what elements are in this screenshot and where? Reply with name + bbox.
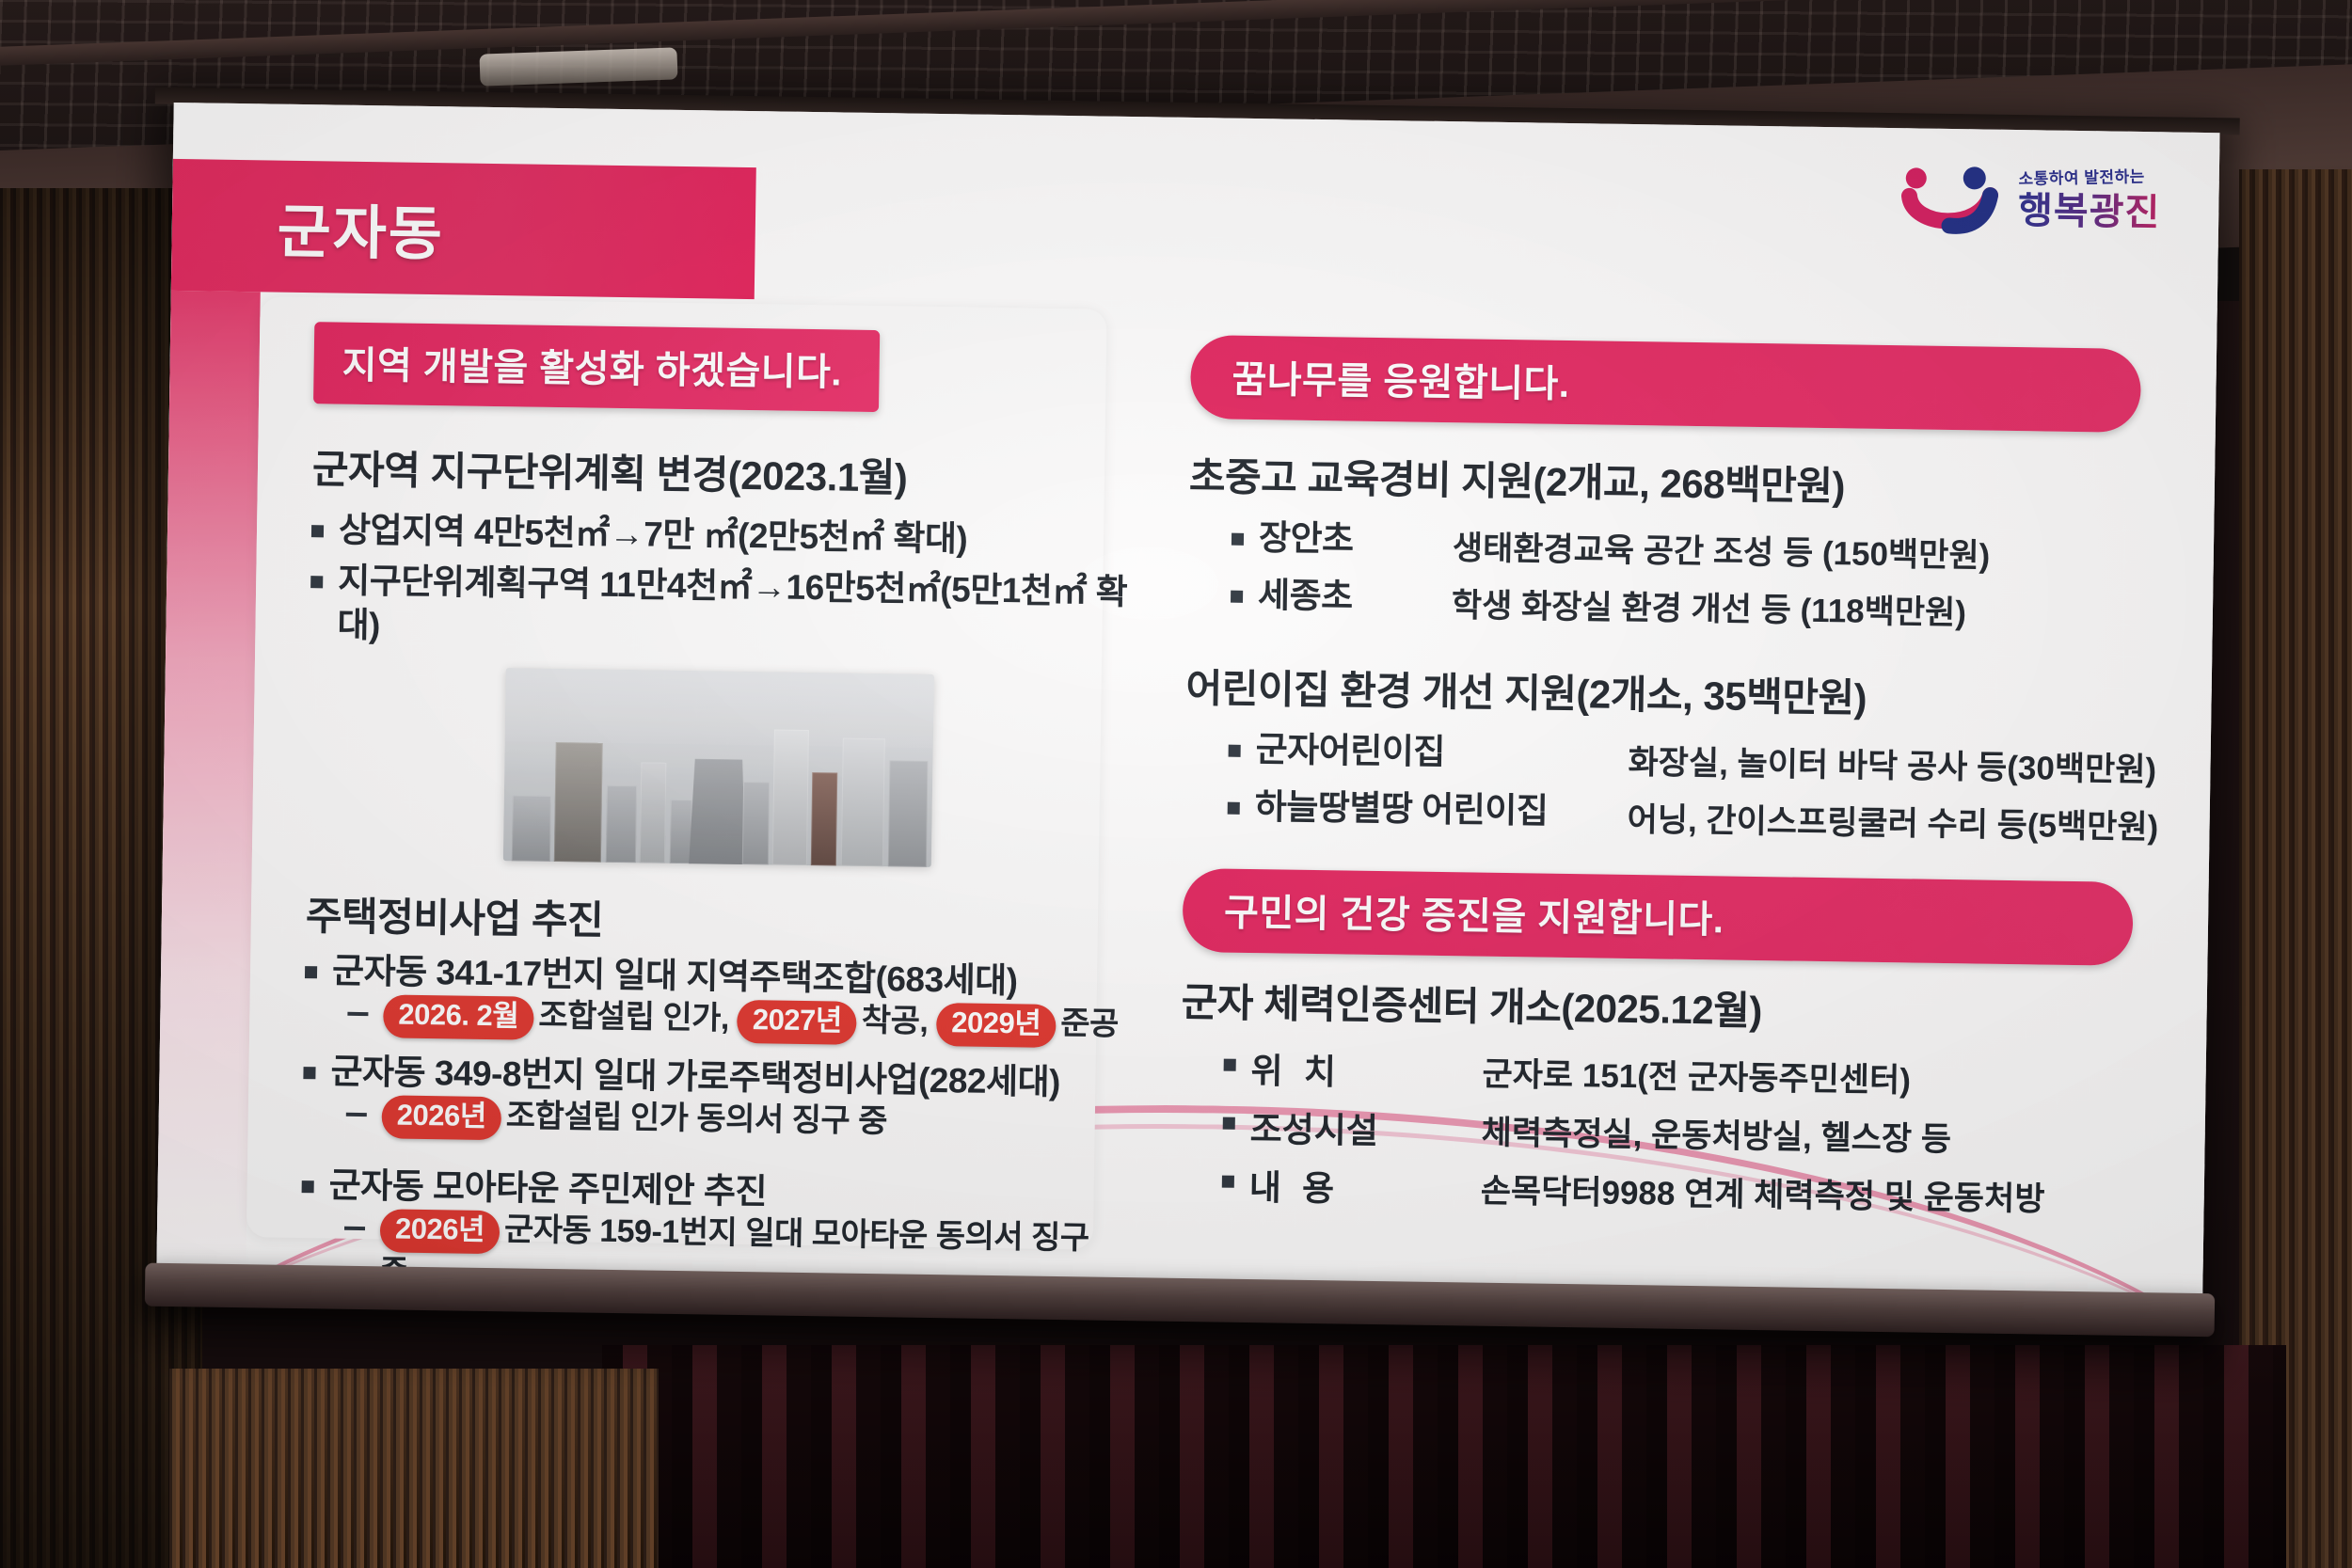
list-item-value: 화장실, 놀이터 바닥 공사 등(30백만원) <box>1628 736 2156 791</box>
section-header-local-development: 지역 개발을 활성화 하겠습니다. <box>313 322 881 412</box>
list-item-label: 상업지역 4만5천㎡→7만 ㎡(2만5천㎡ 확대) <box>339 509 968 562</box>
list-item-value: 학생 화장실 환경 개선 등 (118백만원) <box>1452 578 1967 634</box>
photo-building <box>554 742 603 863</box>
list-item-label: 군자어린이집 <box>1255 728 1613 777</box>
logo-slogan: 소통하여 발전하는 <box>2018 168 2161 187</box>
cityscape-photo <box>502 668 933 867</box>
photo-building <box>811 772 838 865</box>
dash-bullet-icon <box>344 1227 365 1230</box>
date-badge: 2027년 <box>737 1000 857 1045</box>
sub-text: 조합설립 인가, <box>538 998 729 1037</box>
list-item-label: 지구단위계획구역 11만4천㎡→16만5천㎡(5만1천㎡ 확대) <box>337 560 1131 658</box>
stage-curtain <box>602 1345 2286 1568</box>
date-badge: 2026년 <box>380 1209 501 1254</box>
photo-road <box>689 759 745 867</box>
bullet-square-icon <box>1232 533 1244 546</box>
photo-building <box>606 785 637 863</box>
projection-screen: 군자동 소통하여 발전하는 행복광진 <box>155 103 2219 1355</box>
sub-text: 조합설립 인가 동의서 징구 중 <box>506 1098 888 1139</box>
list-item-value: 체력측정실, 운동처방실, 헬스장 등 <box>1481 1106 1951 1161</box>
page-title: 군자동 <box>277 184 444 272</box>
photo-building <box>841 738 886 866</box>
list-item-label: 세종초 <box>1258 574 1438 620</box>
dash-bullet-icon <box>346 1113 367 1117</box>
auditorium-room: 군자동 소통하여 발전하는 행복광진 <box>0 0 2352 1568</box>
left-column: 지역 개발을 활성화 하겠습니다. 군자역 지구단위계획 변경(2023.1월)… <box>246 296 1135 1283</box>
logo-name: 행복광진 <box>2018 192 2161 231</box>
sub-text: 준공 <box>1060 1006 1119 1042</box>
right-column: 꿈나무를 응원합니다. 초중고 교육경비 지원(2개교, 268백만원) 장안초… <box>1120 309 2179 1298</box>
screen-surface: 군자동 소통하여 발전하는 행복광진 <box>156 103 2219 1299</box>
list-item-value: 생태환경교육 공간 조성 등 (150백만원) <box>1453 521 1991 577</box>
organization-logo: 소통하여 발전하는 행복광진 <box>1899 162 2161 239</box>
slide-title-band: 군자동 <box>171 159 756 299</box>
slide-left-rail <box>156 291 260 1270</box>
bullet-square-icon <box>1222 1176 1234 1188</box>
sub-list-item-label: 2026년조합설립 인가 동의서 징구 중 <box>381 1094 887 1146</box>
list-item: 지구단위계획구역 11만4천㎡→16만5천㎡(5만1천㎡ 확대) <box>310 559 1131 657</box>
bullet-square-icon <box>1224 1059 1236 1071</box>
bullet-square-icon <box>1231 591 1243 603</box>
section-header-resident-health: 구민의 건강 증진을 지원합니다. <box>1182 868 2133 966</box>
date-badge: 2029년 <box>936 1003 1057 1048</box>
list-item-label: 군자동 모아타운 주민제안 추진 <box>328 1164 767 1213</box>
list-item-label: 내 용 <box>1248 1159 1466 1212</box>
photo-building <box>640 763 667 863</box>
date-badge: 2026년 <box>381 1095 501 1140</box>
sub-text: 착공, <box>862 1003 929 1039</box>
photo-building <box>511 795 550 861</box>
smile-logo-icon <box>1899 162 2006 237</box>
photo-building <box>742 782 770 865</box>
bullet-square-icon <box>1229 745 1241 757</box>
bullet-square-icon <box>1223 1117 1235 1130</box>
list-item-label: 장안초 <box>1259 516 1438 562</box>
list-item-value: 손목닥터9988 연계 체력측정 및 운동처방 <box>1480 1164 2044 1221</box>
list-item-label: 위 치 <box>1250 1042 1468 1096</box>
bullet-square-icon <box>302 1180 314 1193</box>
list-item-label: 하늘땅별땅 어린이집 <box>1254 785 1613 834</box>
photo-building <box>888 760 929 866</box>
bullet-square-icon <box>303 1067 315 1079</box>
date-badge: 2026. 2월 <box>383 994 534 1039</box>
photo-building <box>772 730 809 865</box>
list-item-label: 조성시설 <box>1249 1101 1467 1154</box>
wood-slat-wall-lower <box>169 1369 659 1568</box>
section-header-dream-tree: 꿈나무를 응원합니다. <box>1190 335 2141 433</box>
subheading-district-plan: 군자역 지구단위계획 변경(2023.1월) <box>312 437 1134 507</box>
dash-bullet-icon <box>347 1012 368 1016</box>
subheading-housing-maintenance: 주택정비사업 추진 <box>306 884 1127 954</box>
bullet-square-icon <box>310 576 323 588</box>
list-item-value: 군자로 151(전 군자동주민센터) <box>1482 1048 1911 1102</box>
bullet-square-icon <box>305 966 317 978</box>
slide-body: 지역 개발을 활성화 하겠습니다. 군자역 지구단위계획 변경(2023.1월)… <box>246 296 2217 1299</box>
list-item-value: 어닝, 간이스프링쿨러 수리 등(5백만원) <box>1627 793 2158 848</box>
logo-text-block: 소통하여 발전하는 행복광진 <box>2018 171 2161 231</box>
presentation-slide: 군자동 소통하여 발전하는 행복광진 <box>156 103 2219 1299</box>
bullet-square-icon <box>1228 802 1240 815</box>
bullet-square-icon <box>311 525 324 537</box>
